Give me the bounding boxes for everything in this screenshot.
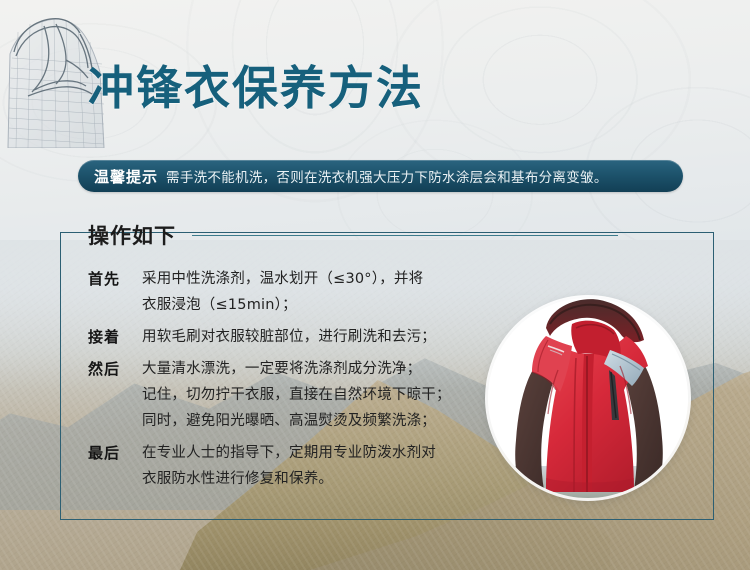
section-heading: 操作如下	[88, 220, 618, 250]
step-line: 用软毛刷对衣服较脏部位，进行刷洗和去污；	[142, 324, 488, 350]
tip-text: 需手洗不能机洗，否则在洗衣机强大压力下防水涂层会和基布分离变皱。	[166, 166, 608, 186]
step-line: 衣服浸泡（≤15min）；	[142, 292, 488, 318]
step-label: 接着	[88, 324, 142, 350]
step-body: 用软毛刷对衣服较脏部位，进行刷洗和去污；	[142, 324, 488, 350]
step-item: 接着用软毛刷对衣服较脏部位，进行刷洗和去污；	[88, 324, 488, 350]
step-item: 首先采用中性洗涤剂，温水划开（≤30°），并将衣服浸泡（≤15min）；	[88, 266, 488, 318]
step-label: 首先	[88, 266, 142, 318]
step-line: 在专业人士的指导下，定期用专业防泼水剂对	[142, 440, 488, 466]
step-item: 最后在专业人士的指导下，定期用专业防泼水剂对衣服防水性进行修复和保养。	[88, 440, 488, 492]
step-label: 最后	[88, 440, 142, 492]
step-list: 首先采用中性洗涤剂，温水划开（≤30°），并将衣服浸泡（≤15min）；接着用软…	[88, 266, 488, 498]
step-line: 大量清水漂洗，一定要将洗涤剂成分洗净；	[142, 356, 488, 382]
header: 冲锋衣保养方法	[0, 0, 750, 148]
page-title: 冲锋衣保养方法	[88, 52, 424, 118]
step-line: 记住，切勿拧干衣服，直接在自然环境下晾干；	[142, 382, 488, 408]
step-line: 衣服防水性进行修复和保养。	[142, 466, 488, 492]
product-image-circle[interactable]	[488, 298, 688, 498]
step-body: 采用中性洗涤剂，温水划开（≤30°），并将衣服浸泡（≤15min）；	[142, 266, 488, 318]
page-root: 冲锋衣保养方法 温馨提示 需手洗不能机洗，否则在洗衣机强大压力下防水涂层会和基布…	[0, 0, 750, 570]
step-item: 然后大量清水漂洗，一定要将洗涤剂成分洗净；记住，切勿拧干衣服，直接在自然环境下晾…	[88, 356, 488, 434]
tip-banner: 温馨提示 需手洗不能机洗，否则在洗衣机强大压力下防水涂层会和基布分离变皱。	[78, 160, 683, 192]
step-body: 在专业人士的指导下，定期用专业防泼水剂对衣服防水性进行修复和保养。	[142, 440, 488, 492]
step-line: 采用中性洗涤剂，温水划开（≤30°），并将	[142, 266, 488, 292]
section-divider	[192, 235, 618, 236]
section-title: 操作如下	[88, 220, 192, 250]
red-hooded-jacket-icon	[488, 298, 688, 498]
step-label: 然后	[88, 356, 142, 434]
step-line: 同时，避免阳光曝晒、高温熨烫及频繁洗涤；	[142, 408, 488, 434]
step-body: 大量清水漂洗，一定要将洗涤剂成分洗净；记住，切勿拧干衣服，直接在自然环境下晾干；…	[142, 356, 488, 434]
tip-label: 温馨提示	[94, 166, 158, 187]
